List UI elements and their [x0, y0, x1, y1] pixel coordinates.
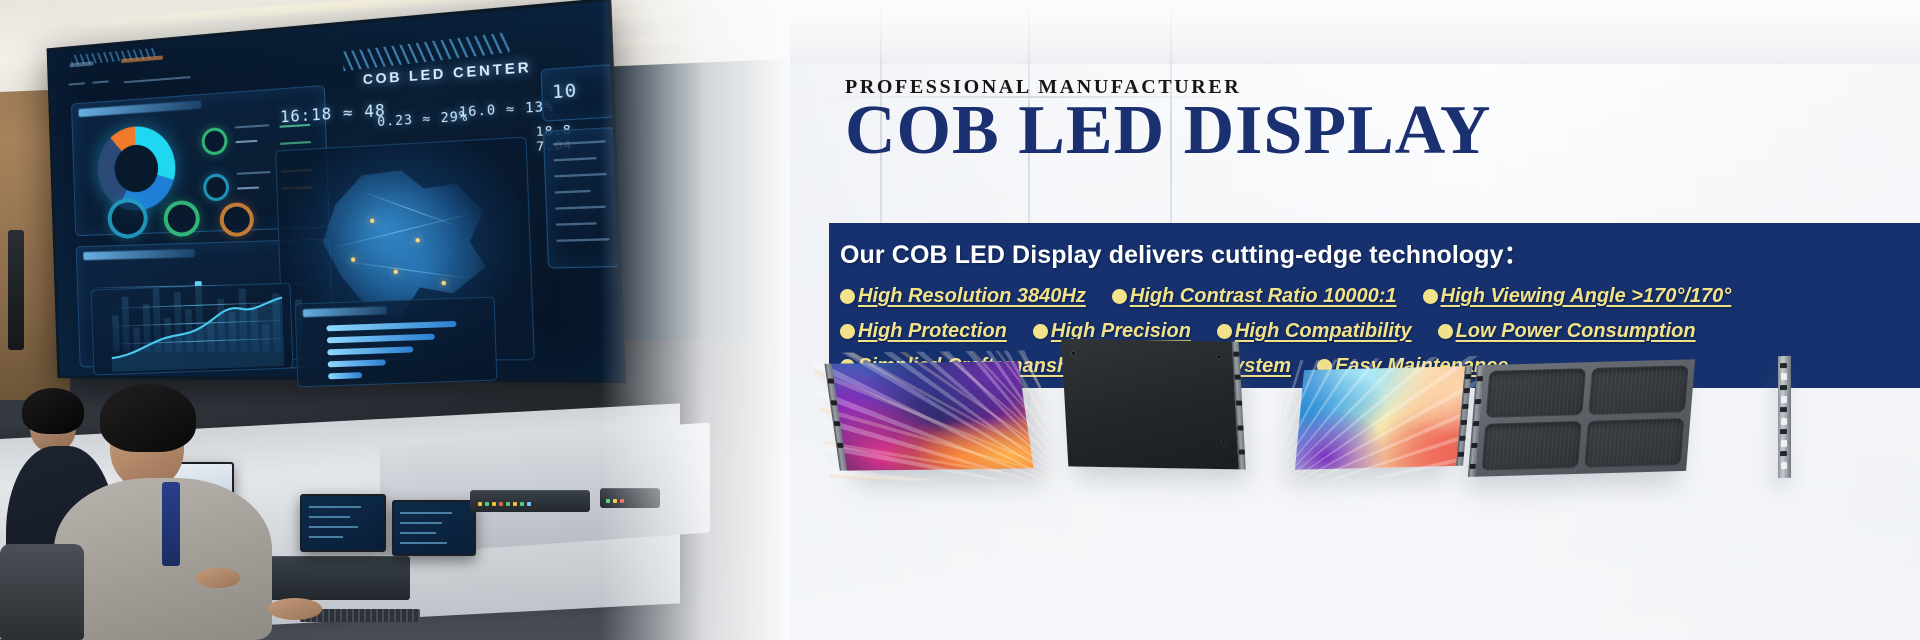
console-leds: [478, 502, 531, 506]
photo-right-fade: [600, 0, 790, 640]
control-room-photo: COB LED CENTER 16:18 ≈ 48 0.23 ≈ 29% 16.…: [0, 0, 790, 640]
feature-item[interactable]: High Viewing Angle >170°/170°: [1423, 285, 1732, 308]
operator-monitor-3: [300, 494, 386, 552]
trend-chart: [91, 283, 294, 376]
product-panel-front-pastel[interactable]: [1295, 366, 1465, 470]
feature-label: High Contrast Ratio 10000:1: [1130, 285, 1397, 308]
product-panel-cabinet-rear[interactable]: [1475, 359, 1695, 477]
feature-item[interactable]: High Contrast Ratio 10000:1: [1112, 285, 1397, 308]
feature-row-1: High Resolution 3840Hz High Contrast Rat…: [840, 279, 1920, 314]
wall-readout-2: 16.0 ≈ 13%: [459, 98, 555, 120]
features-heading: Our COB LED Display delivers cutting-edg…: [829, 235, 1920, 271]
operator-person-2: [58, 370, 288, 640]
feature-label: High Viewing Angle >170°/170°: [1441, 285, 1732, 308]
product-panel-cabinet-black[interactable]: [1061, 339, 1239, 470]
wall-readout-1: 0.23 ≈ 29%: [377, 108, 469, 129]
gauge-row: [107, 193, 289, 259]
product-panel-edge-profile[interactable]: [1778, 356, 1791, 478]
operator-monitor-4: [392, 500, 476, 556]
ceiling-band: [760, 0, 1920, 64]
page-title: COB LED DISPLAY: [845, 96, 1491, 166]
wall-speaker: [8, 230, 24, 350]
banner: COB LED CENTER 16:18 ≈ 48 0.23 ≈ 29% 16.…: [0, 0, 1920, 640]
product-panel-front-colorful[interactable]: [832, 361, 1034, 470]
bullet-dot-icon: [1423, 289, 1438, 304]
bullet-dot-icon: [840, 289, 855, 304]
product-showcase: [760, 330, 1920, 640]
feature-label: High Resolution 3840Hz: [858, 285, 1086, 308]
hbar-chart: [295, 297, 498, 388]
feature-item[interactable]: High Resolution 3840Hz: [840, 285, 1086, 308]
bullet-dot-icon: [1112, 289, 1127, 304]
